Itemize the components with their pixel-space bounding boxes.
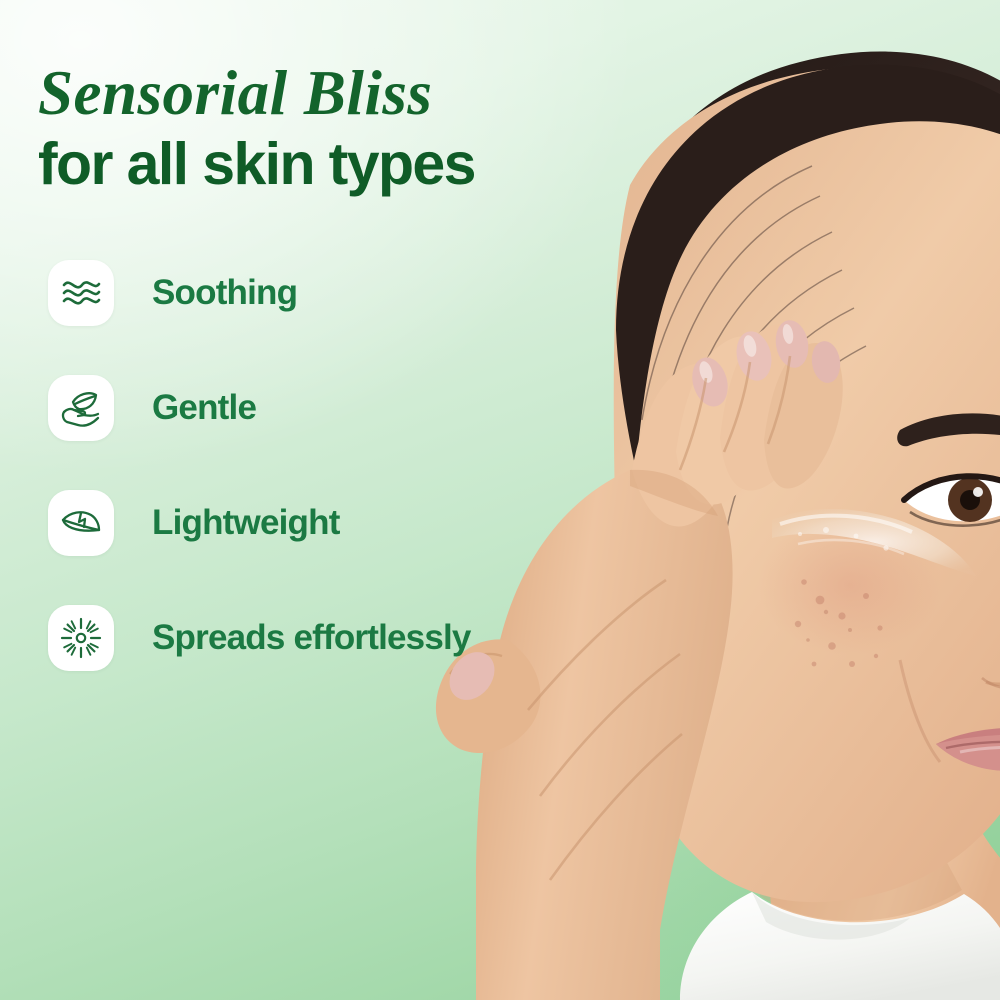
feature-icon-tile	[48, 375, 114, 441]
waves-icon	[59, 271, 103, 315]
feature-icon-tile	[48, 605, 114, 671]
feature-item-lightweight: Lightweight	[48, 490, 471, 556]
headline-bold-line: for all skin types	[38, 133, 475, 196]
headline-block: Sensorial Bliss for all skin types	[38, 62, 475, 196]
feature-label: Spreads effortlessly	[152, 618, 471, 658]
feature-item-spreads-effortlessly: Spreads effortlessly	[48, 605, 471, 671]
feature-label: Soothing	[152, 273, 297, 313]
feature-icon-tile	[48, 490, 114, 556]
hand-leaf-icon	[58, 385, 104, 431]
sunburst-icon	[59, 616, 103, 660]
feature-label: Gentle	[152, 388, 256, 428]
feature-list: Soothing Gentle	[48, 260, 471, 671]
feature-label: Lightweight	[152, 503, 340, 543]
feather-icon	[58, 500, 104, 546]
feature-item-gentle: Gentle	[48, 375, 471, 441]
promo-banner: Sensorial Bliss for all skin types Sooth…	[0, 0, 1000, 1000]
headline-script-line: Sensorial Bliss	[38, 62, 475, 125]
feature-icon-tile	[48, 260, 114, 326]
feature-item-soothing: Soothing	[48, 260, 471, 326]
